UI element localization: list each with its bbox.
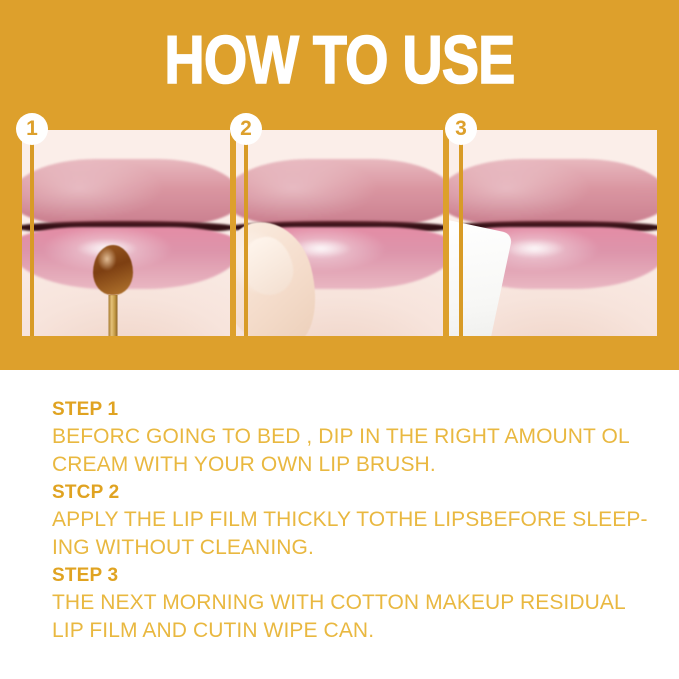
step-divider-line-3 [459,130,463,336]
step-2-heading: STCP 2 [52,479,652,506]
step-2-line-1: APPLY THE LIP FILM THICKLY TOTHE LIPSBEF… [52,506,652,534]
lip-gloss-highlight-3 [503,239,565,258]
upper-lip-2 [236,159,444,225]
upper-lip-3 [449,159,657,225]
upper-lip-1 [22,159,230,225]
applicator-tip-icon [93,245,133,295]
how-to-use-infographic: HOW TO USE [0,0,679,679]
step-1-body: BEFORC GOING TO BED , DIP IN THE RIGHT A… [52,423,652,479]
step-photo-2 [236,130,444,336]
applicator-handle-icon [109,295,118,336]
step-3-body: THE NEXT MORNING WITH COTTON MAKEUP RESI… [52,589,652,645]
step-divider-line-1 [30,130,34,336]
step-photo-3 [449,130,657,336]
step-1-line-2: CREAM WITH YOUR OWN LIP BRUSH. [52,451,652,479]
step-badge-2: 2 [230,113,262,145]
step-photo-strip [22,130,657,336]
step-2-body: APPLY THE LIP FILM THICKLY TOTHE LIPSBEF… [52,506,652,562]
step-1-line-1: BEFORC GOING TO BED , DIP IN THE RIGHT A… [52,423,652,451]
step-divider-line-2 [244,130,248,336]
instructions-block: STEP 1 BEFORC GOING TO BED , DIP IN THE … [52,396,652,645]
step-badge-3: 3 [445,113,477,145]
step-3-heading: STEP 3 [52,562,652,589]
step-photo-1 [22,130,230,336]
step-3-line-1: THE NEXT MORNING WITH COTTON MAKEUP RESI… [52,589,652,617]
step-badge-1: 1 [16,113,48,145]
step-1-heading: STEP 1 [52,396,652,423]
step-3-line-2: LIP FILM AND CUTIN WIPE CAN. [52,617,652,645]
page-title: HOW TO USE [61,26,618,94]
step-2-line-2: ING WITHOUT CLEANING. [52,534,652,562]
